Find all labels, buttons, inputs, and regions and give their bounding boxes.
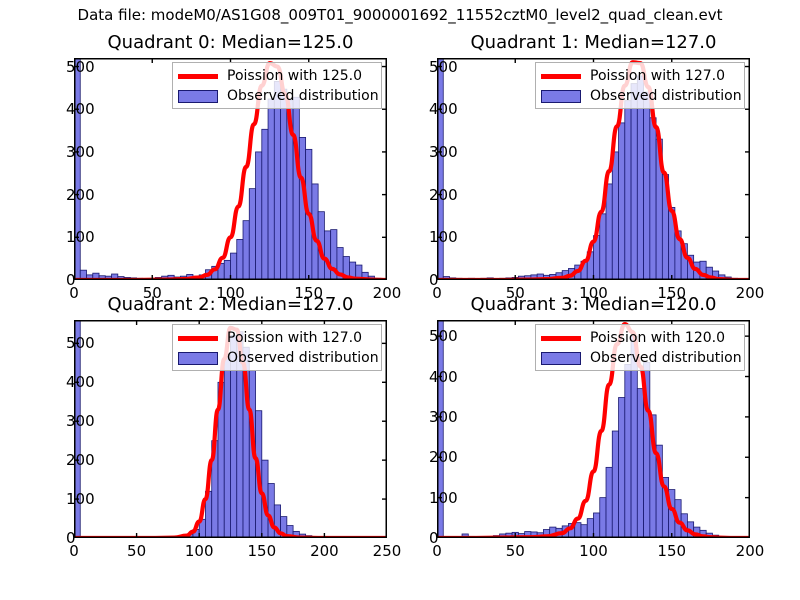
legend-quadrant-2: Poission with 127.0Observed distribution — [172, 324, 382, 371]
legend-label: Poission with 127.0 — [227, 331, 362, 345]
legend-quadrant-0: Poission with 125.0Observed distribution — [172, 62, 382, 109]
subplot-title-quadrant-2: Quadrant 2: Median=127.0 — [74, 294, 387, 315]
figure-suptitle: Data file: modeM0/AS1G08_009T01_90000016… — [0, 6, 800, 24]
subplot-title-quadrant-1: Quadrant 1: Median=127.0 — [437, 32, 750, 53]
legend-line-swatch — [541, 69, 581, 83]
legend-line-swatch — [178, 331, 218, 345]
legend-patch-swatch — [541, 352, 581, 365]
legend-line-swatch — [541, 331, 581, 345]
x-tick-label: 100 — [185, 542, 214, 560]
x-tick-label: 50 — [506, 542, 525, 560]
legend-label: Observed distribution — [590, 89, 742, 103]
legend-label: Poission with 125.0 — [227, 69, 362, 83]
legend-label: Poission with 120.0 — [590, 331, 725, 345]
x-tick-label: 50 — [127, 542, 146, 560]
legend-entry-observed: Observed distribution — [178, 348, 375, 368]
legend-label: Observed distribution — [227, 351, 379, 365]
legend-entry-observed: Observed distribution — [541, 348, 738, 368]
x-tick-label: 150 — [657, 542, 686, 560]
legend-entry-poisson: Poission with 125.0 — [178, 66, 375, 86]
matplotlib-figure: Data file: modeM0/AS1G08_009T01_90000016… — [0, 0, 800, 600]
legend-entry-observed: Observed distribution — [541, 86, 738, 106]
legend-label: Observed distribution — [227, 89, 379, 103]
legend-entry-poisson: Poission with 120.0 — [541, 328, 738, 348]
x-tick-label: 150 — [247, 542, 276, 560]
x-tick-label: 250 — [373, 542, 402, 560]
legend-entry-poisson: Poission with 127.0 — [178, 328, 375, 348]
subplot-title-quadrant-0: Quadrant 0: Median=125.0 — [74, 32, 387, 53]
legend-patch-swatch — [178, 90, 218, 103]
legend-patch-swatch — [178, 352, 218, 365]
x-tick-label: 0 — [432, 542, 442, 560]
x-tick-label: 0 — [69, 542, 79, 560]
legend-entry-observed: Observed distribution — [178, 86, 375, 106]
legend-label: Poission with 127.0 — [590, 69, 725, 83]
legend-quadrant-1: Poission with 127.0Observed distribution — [535, 62, 745, 109]
x-tick-label: 200 — [310, 542, 339, 560]
x-tick-label: 100 — [579, 542, 608, 560]
legend-entry-poisson: Poission with 127.0 — [541, 66, 738, 86]
legend-quadrant-3: Poission with 120.0Observed distribution — [535, 324, 745, 371]
x-tick-label: 200 — [736, 542, 765, 560]
legend-patch-swatch — [541, 90, 581, 103]
legend-line-swatch — [178, 69, 218, 83]
subplot-title-quadrant-3: Quadrant 3: Median=120.0 — [437, 294, 750, 315]
legend-label: Observed distribution — [590, 351, 742, 365]
